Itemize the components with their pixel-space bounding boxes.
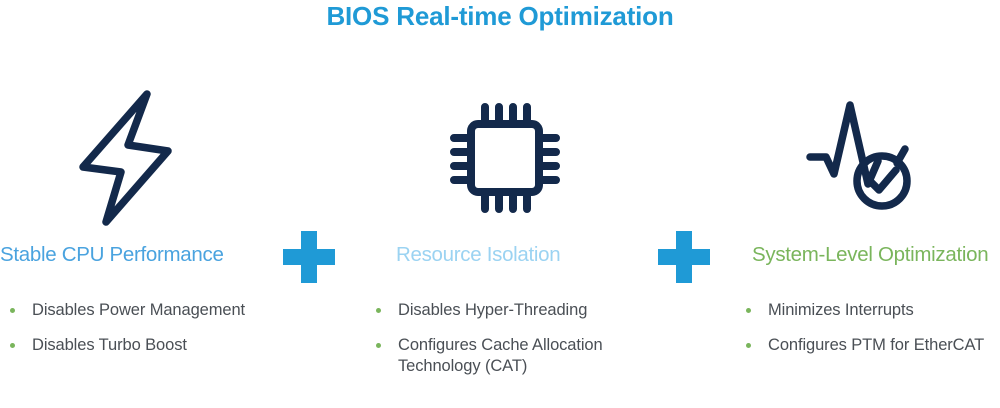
bullet-list-system-level-optimization: Minimizes Interrupts Configures PTM for … [740,300,995,356]
list-item: Configures Cache Allocation Technology (… [370,335,645,377]
lightning-bolt-icon [45,88,205,228]
column-heading-resource-isolation: Resource Isolation [396,238,560,272]
list-item: Configures PTM for EtherCAT [740,335,995,356]
column-heading-system-level-optimization: System-Level Optimization [752,238,988,272]
bullet-dot-icon [746,308,751,313]
list-item: Disables Hyper-Threading [370,300,645,321]
bullet-list-resource-isolation: Disables Hyper-Threading Configures Cach… [370,300,645,377]
list-item-label: Configures PTM for EtherCAT [768,336,984,354]
column-heading-stable-cpu-performance: Stable CPU Performance [0,238,224,272]
plus-separator-2 [658,231,710,283]
bullet-dot-icon [376,308,381,313]
bullet-dot-icon [10,308,15,313]
list-item-label: Disables Power Management [32,301,245,319]
bullet-dot-icon [746,343,751,348]
waveform-magnifier-icon [785,88,945,228]
column-headings-row: Stable CPU Performance Resource Isolatio… [0,238,1000,278]
slide-canvas: BIOS Real-time Optimization [0,0,1000,408]
bullet-dot-icon [10,343,15,348]
list-item-label: Minimizes Interrupts [768,301,914,319]
list-item-label: Disables Hyper-Threading [398,301,587,319]
list-item: Minimizes Interrupts [740,300,995,321]
list-item-label: Disables Turbo Boost [32,336,187,354]
page-title: BIOS Real-time Optimization [0,1,1000,32]
bullet-dot-icon [376,343,381,348]
cpu-chip-icon [425,88,585,228]
icon-row [0,88,1000,228]
plus-separator-1 [283,231,335,283]
bullet-list-stable-cpu-performance: Disables Power Management Disables Turbo… [4,300,254,356]
list-item: Disables Turbo Boost [4,335,254,356]
list-item: Disables Power Management [4,300,254,321]
list-item-label: Configures Cache Allocation Technology (… [398,336,603,375]
